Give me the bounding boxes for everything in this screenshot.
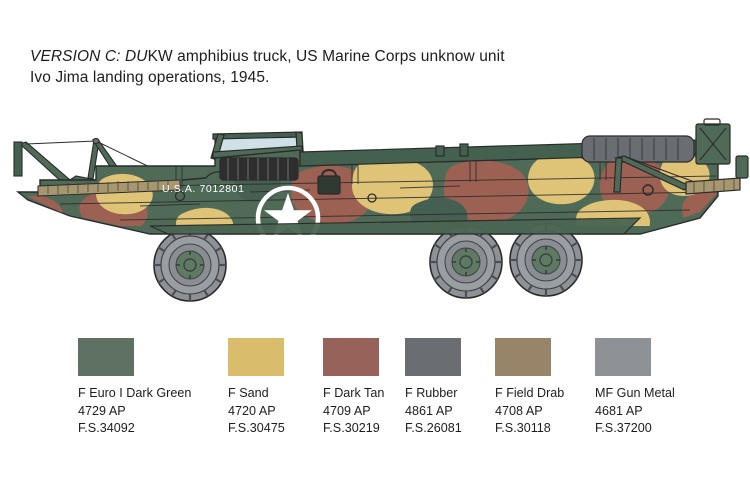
swatch-fs-0: F.S.34092 [78, 420, 228, 438]
swatch-name-5: MF Gun Metal [595, 385, 745, 403]
swatch-chip-2 [323, 338, 379, 376]
caption-line2: Ivo Jima landing operations, 1945. [30, 69, 270, 86]
swatch-item-0: F Euro I Dark Green 4729 AP F.S.34092 [78, 338, 228, 438]
wheel-rear-1 [430, 226, 502, 298]
page-root: VERSION C: DUKW amphibius truck, US Mari… [0, 0, 750, 500]
swatch-chip-4 [495, 338, 551, 376]
swatch-chip-0 [78, 338, 134, 376]
wheel-front [154, 229, 226, 301]
rear-tarp-bundle [582, 136, 694, 162]
swatch-chip-1 [228, 338, 284, 376]
hull-serial-marking: U.S.A. 7012801 [162, 183, 245, 195]
dukw-side-profile-illustration: U.S.A. 7012801 [0, 100, 750, 320]
swatch-fs-5: F.S.37200 [595, 420, 745, 438]
cab-grille [220, 158, 298, 180]
swatch-chip-3 [405, 338, 461, 376]
swatch-code-5: 4681 AP [595, 403, 745, 421]
caption-line1-rest: KW amphibius truck, US Marine Corps unkn… [148, 48, 505, 65]
swatch-name-0: F Euro I Dark Green [78, 385, 228, 403]
version-caption: VERSION C: DUKW amphibius truck, US Mari… [30, 46, 670, 88]
paint-color-legend: F Euro I Dark Green 4729 AP F.S.34092 F … [78, 338, 718, 458]
wheel-rear-2 [510, 224, 582, 296]
swatch-chip-5 [595, 338, 651, 376]
swatch-code-0: 4729 AP [78, 403, 228, 421]
swatch-item-5: MF Gun Metal 4681 AP F.S.37200 [595, 338, 745, 438]
jerry-can [696, 119, 730, 164]
caption-version-label: VERSION C: DU [30, 48, 148, 65]
